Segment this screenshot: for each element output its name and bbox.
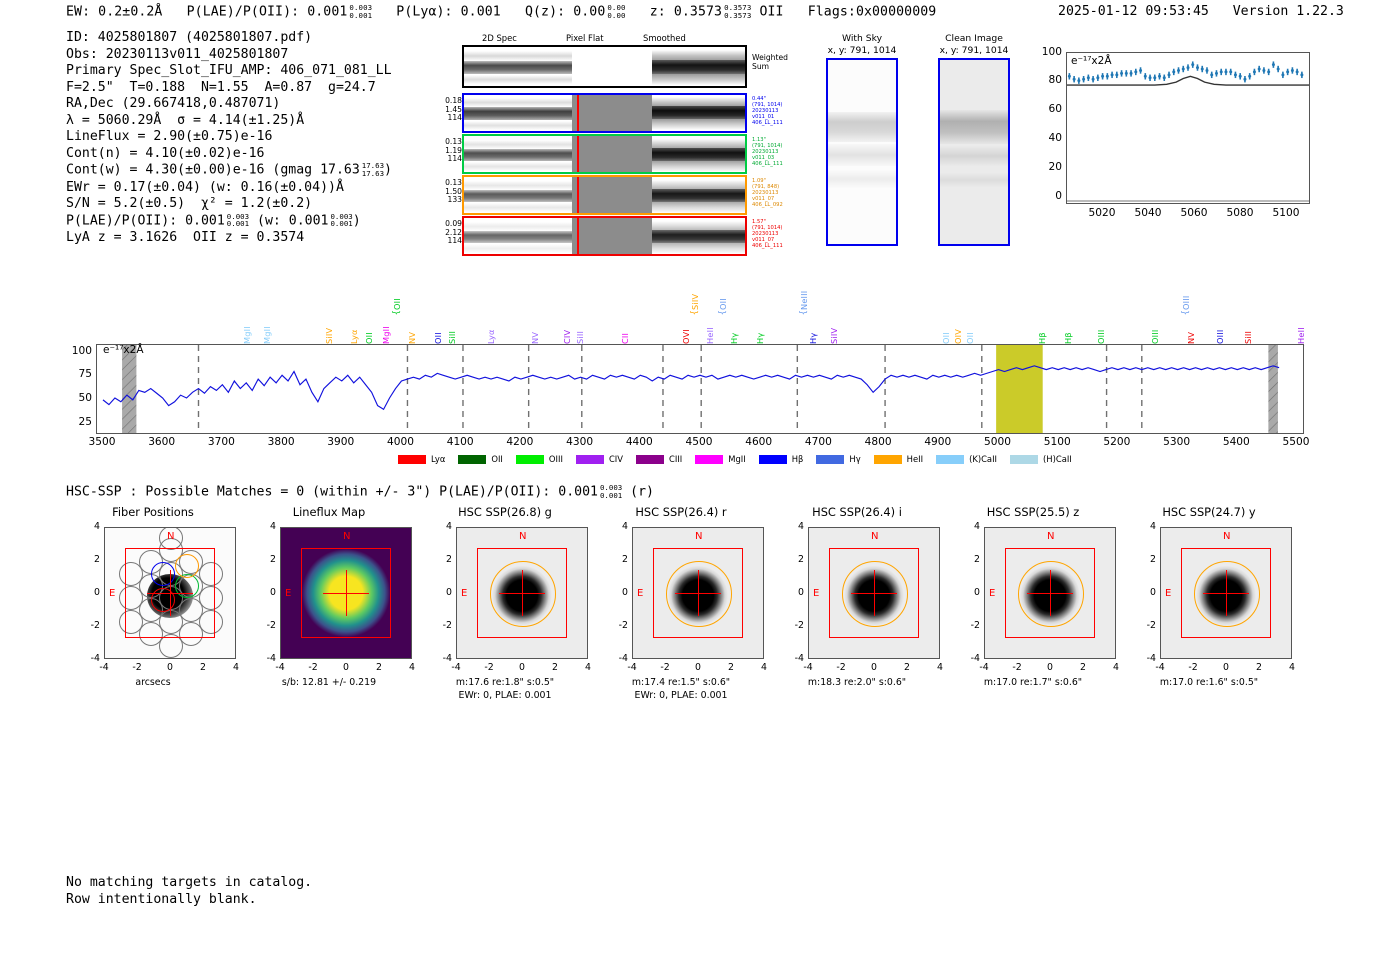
cutout-ytick: 2 [256, 554, 276, 565]
cutout-xtick: -4 [622, 662, 642, 673]
cutout-xtick: -4 [974, 662, 994, 673]
cutout-panel-title: HSC SSP(26.4) i [764, 505, 950, 520]
legend-label: MgII [728, 454, 745, 464]
emission-line-label: NV [530, 304, 540, 344]
zoom-plot-units: e⁻¹⁷x2Å [1071, 55, 1112, 67]
legend-swatch [458, 455, 486, 464]
spectrum-axes[interactable]: e⁻¹⁷x2Å [96, 344, 1304, 434]
legend-item: (K)CaII [936, 454, 997, 464]
meta-plae-w-lo: 0.001 [330, 219, 352, 228]
cutout-xtick: 4 [402, 662, 422, 673]
crosshair-horizontal [147, 593, 193, 594]
emission-line-label: CIV [562, 304, 572, 344]
cutout-ytick: 0 [784, 587, 804, 598]
header-qz-value: 0.00 [573, 5, 605, 20]
emission-line-label: SiIV [690, 270, 700, 310]
cutout-xtick: -2 [1007, 662, 1027, 673]
cutout-panel-title: HSC SSP(26.8) g [412, 505, 598, 520]
cutout-image[interactable]: NE [456, 527, 588, 659]
header-plae-label: P(LAE)/P(OII): [187, 5, 300, 20]
compass-east: E [285, 588, 291, 599]
cutout-xtick: -2 [479, 662, 499, 673]
zoom-ytick: 0 [1038, 190, 1062, 202]
cutout-panel: HSC SSP(26.8) gNE420-2-4-4-2024m:17.6 re… [412, 505, 598, 524]
cutout-ytick: -2 [784, 620, 804, 631]
emission-line-label: OIII [1150, 304, 1160, 344]
compass-east: E [1165, 588, 1171, 599]
emission-line-label: OII [718, 270, 728, 310]
emission-line-label: MgII [242, 304, 252, 344]
cutout-xtick: 2 [1073, 662, 1093, 673]
cutout-xtick: 0 [864, 662, 884, 673]
cutout-panel: Lineflux MapNE420-2-4-4-2024s/b: 12.81 +… [236, 505, 422, 524]
hsc-ssp-header: HSC-SSP : Possible Matches = 0 (within +… [66, 484, 654, 500]
zoom-spectrum-plot: e⁻¹⁷x2Å 100 80 60 40 20 0 5020 5040 5060… [1030, 52, 1310, 222]
2dspec-fiber-row: 0.13 1.19 114 1.13" (791, 1014) 20230113… [462, 134, 747, 174]
2dspec-fiber-row: 0.18 1.45 114 0.44" (791, 1014) 20230113… [462, 93, 747, 133]
spectrum-xtick: 3500 [82, 436, 122, 448]
fiber-smoothed-cell [652, 177, 745, 213]
cutout-ytick: 2 [1136, 554, 1156, 565]
emission-line-label: SiIV [829, 304, 839, 344]
2dspec-weighted-sum-row: Weighted Sum [462, 45, 747, 88]
cutout-xtick: -4 [446, 662, 466, 673]
cutout-image[interactable]: NE [984, 527, 1116, 659]
compass-east: E [637, 588, 643, 599]
fiber-values: 0.09 2.12 114 [442, 220, 462, 246]
weighted-sum-label: Weighted Sum [752, 53, 810, 71]
spectrum-ytick: 100 [62, 345, 92, 357]
spectrum-xtick: 4300 [560, 436, 600, 448]
cutout-panel-title: HSC SSP(24.7) y [1116, 505, 1302, 520]
cutout-ytick: 4 [1136, 521, 1156, 532]
compass-north: N [1223, 531, 1230, 542]
cutout-caption-primary: m:17.6 re:1.8" s:0.5" [412, 677, 598, 690]
cutout-caption-primary: s/b: 12.81 +/- 0.219 [236, 677, 422, 690]
cutout-ytick: 2 [608, 554, 628, 565]
clean-image-cutout[interactable] [938, 58, 1010, 246]
fiber-values: 0.18 1.45 114 [442, 97, 462, 123]
cutout-ytick: 4 [960, 521, 980, 532]
spectrum-xtick: 4200 [500, 436, 540, 448]
legend-swatch [1010, 455, 1038, 464]
source-metadata-block: ID: 4025801807 (4025801807.pdf) Obs: 202… [66, 30, 392, 246]
cutout-xtick: -2 [831, 662, 851, 673]
header-qz-label: Q(z): [525, 5, 565, 20]
spectrum-xtick: 4600 [739, 436, 779, 448]
legend-label: (K)CaII [969, 454, 997, 464]
cutout-image[interactable]: NE [280, 527, 412, 659]
fiber-spec-cell [464, 95, 572, 131]
cutout-xtick: -2 [655, 662, 675, 673]
cutout-caption-primary: arcsecs [60, 677, 246, 690]
fiber-smoothed-cell [652, 218, 745, 254]
compass-north: N [519, 531, 526, 542]
meta-redshifts: LyA z = 3.1626 OII z = 0.3574 [66, 230, 392, 247]
crosshair-horizontal [851, 593, 897, 594]
cutout-xtick: 0 [512, 662, 532, 673]
spectrum-xtick: 4500 [679, 436, 719, 448]
spectrum-xtick: 4000 [380, 436, 420, 448]
emission-line-label: SiII [575, 304, 585, 344]
cutout-caption-primary: m:17.0 re:1.7" s:0.6" [940, 677, 1126, 690]
cutout-ytick: -2 [960, 620, 980, 631]
cutout-ytick: 0 [1136, 587, 1156, 598]
zoom-ytick: 20 [1038, 161, 1062, 173]
spectrum-xtick: 5200 [1097, 436, 1137, 448]
zoom-ytick: 60 [1038, 103, 1062, 115]
cutout-image[interactable]: NE [808, 527, 940, 659]
footer-line-1: No matching targets in catalog. [66, 874, 312, 891]
fiber-annotation: 1.09" (791, 848) 20230113 v011_07 406_LL… [752, 178, 810, 208]
emission-line-label: Hγ [755, 304, 765, 344]
emission-line-label: Lyα [486, 304, 496, 344]
spectrum-units: e⁻¹⁷x2Å [103, 344, 144, 356]
legend-item: CIII [636, 454, 682, 464]
cutout-xtick: 4 [226, 662, 246, 673]
meta-snr: S/N = 5.2(±0.5) χ² = 1.2(±0.2) [66, 196, 392, 213]
cutout-xtick: 4 [754, 662, 774, 673]
zoom-ytick: 80 [1038, 74, 1062, 86]
legend-item: OII [458, 454, 503, 464]
header-timestamp-version: 2025-01-12 09:53:45 Version 1.22.3 [1058, 4, 1344, 19]
zoom-plot-axes: e⁻¹⁷x2Å [1066, 52, 1310, 204]
compass-north: N [695, 531, 702, 542]
legend-swatch [516, 455, 544, 464]
legend-item: Hβ [759, 454, 804, 464]
weighted-sum-spec-cell [464, 47, 572, 86]
header-plya-value: 0.001 [461, 5, 501, 20]
header-ew: EW: 0.2±0.2Å [66, 5, 162, 20]
legend-label: OIII [549, 454, 563, 464]
2d-spectrum-panel: 2D Spec Pixel Flat Smoothed Weighted Sum… [440, 33, 770, 248]
fiber-annotation: 0.44" (791, 1014) 20230113 v011_01 406_L… [752, 96, 810, 126]
zoom-xtick: 5060 [1174, 207, 1214, 219]
fiber-pixflat-cell [572, 95, 652, 131]
emission-line-label: MgII [262, 304, 272, 344]
fiber-values: 0.13 1.50 133 [442, 179, 462, 205]
legend-item: HeII [874, 454, 923, 464]
zoom-plot-svg [1067, 53, 1309, 203]
cutout-xtick: -4 [270, 662, 290, 673]
cutout-xtick: -2 [1183, 662, 1203, 673]
emission-line-label: CII [620, 304, 630, 344]
hsc-prefix: HSC-SSP : Possible Matches = 0 (within +… [66, 485, 550, 500]
spectrum-ytick: 50 [62, 392, 92, 404]
emission-line-label: NV [407, 304, 417, 344]
spectrum-xtick: 4400 [619, 436, 659, 448]
meta-cont-w: Cont(w) = 4.30(±0.00)e-16 (gmag 17.6317.… [66, 162, 392, 179]
emission-line-label: OIII [1096, 304, 1106, 344]
meta-seeing: F=2.5" T=0.188 N=1.55 A=0.87 g=24.7 [66, 80, 392, 97]
cutout-caption-primary: m:18.3 re:2.0" s:0.6" [764, 677, 950, 690]
cutout-ytick: -2 [608, 620, 628, 631]
cutout-ytick: 2 [432, 554, 452, 565]
compass-east: E [989, 588, 995, 599]
with-sky-title: With Sky [812, 33, 912, 44]
cutout-caption-secondary: EWr: 0, PLAE: 0.001 [412, 690, 598, 703]
header-plae-value: 0.001 [307, 5, 347, 20]
cutout-panel-title: HSC SSP(26.4) r [588, 505, 774, 520]
fiber-spec-cell [464, 177, 572, 213]
cutout-ytick: -2 [1136, 620, 1156, 631]
crosshair-horizontal [675, 593, 721, 594]
cutout-panel-title: Lineflux Map [236, 505, 422, 520]
meta-id: ID: 4025801807 (4025801807.pdf) [66, 30, 392, 47]
legend-swatch [936, 455, 964, 464]
legend-item: Lyα [398, 454, 445, 464]
cutout-ytick: 0 [960, 587, 980, 598]
emission-line-label: SiII [1243, 304, 1253, 344]
emission-line-label: HeII [705, 304, 715, 344]
cutout-xtick: -2 [303, 662, 323, 673]
header-plae-lo: 0.001 [349, 11, 372, 20]
header-z-species: OII [759, 5, 783, 20]
spectrum-xtick: 4800 [858, 436, 898, 448]
fiber-pixflat-cell [572, 177, 652, 213]
cutout-ytick: 0 [256, 587, 276, 598]
legend-label: Hγ [849, 454, 860, 464]
meta-cont-n: Cont(n) = 4.10(±0.02)e-16 [66, 146, 392, 163]
legend-item: MgII [695, 454, 745, 464]
compass-east: E [461, 588, 467, 599]
cutout-panel: HSC SSP(26.4) iNE420-2-4-4-2024m:18.3 re… [764, 505, 950, 524]
cutout-image[interactable]: NE [632, 527, 764, 659]
zoom-xtick: 5100 [1266, 207, 1306, 219]
clean-image-coords: x, y: 791, 1014 [924, 45, 1024, 56]
header-flags: Flags:0x00000009 [808, 5, 937, 20]
meta-gmag-lo: 17.63 [362, 169, 384, 178]
header-summary-line: EW: 0.2±0.2Å P(LAE)/P(OII): 0.0010.0030.… [66, 4, 936, 20]
meta-obs: Obs: 20230113v011_4025801807 [66, 47, 392, 64]
2dspec-col-title-smoothed: Smoothed [643, 33, 686, 43]
emission-line-label: MgII [381, 304, 391, 344]
spectrum-xtick: 3700 [201, 436, 241, 448]
legend-swatch [576, 455, 604, 464]
legend-label: Lyα [431, 454, 445, 464]
cutout-xtick: 2 [369, 662, 389, 673]
cutout-ytick: 4 [80, 521, 100, 532]
cutout-caption-primary: m:17.4 re:1.5" s:0.6" [588, 677, 774, 690]
legend-swatch [695, 455, 723, 464]
cutout-ytick: -2 [256, 620, 276, 631]
full-spectrum-plot: MgII{MgII{SiIV{Lyα{OII{OII{MgII{NV{OII{S… [96, 266, 1304, 436]
spectrum-svg [97, 345, 1303, 433]
emission-line-label: HeII [1296, 304, 1306, 344]
emission-line-label: OIII [1215, 304, 1225, 344]
spectrum-xtick: 5400 [1216, 436, 1256, 448]
2dspec-fiber-row: 0.09 2.12 114 1.57" (791, 1014) 20230113… [462, 216, 747, 256]
emission-line-brace: { [392, 310, 402, 315]
crosshair-horizontal [323, 593, 369, 594]
cutout-ytick: -2 [80, 620, 100, 631]
crosshair-horizontal [499, 593, 545, 594]
spectrum-xtick: 5000 [978, 436, 1018, 448]
cutout-xtick: 0 [1216, 662, 1236, 673]
fiber-spec-cell [464, 218, 572, 254]
legend-swatch [759, 455, 787, 464]
cutout-xtick: -4 [798, 662, 818, 673]
compass-north: N [1047, 531, 1054, 542]
spectrum-ytick: 25 [62, 416, 92, 428]
emission-line-label: OII [941, 304, 951, 344]
spectrum-xtick: 4100 [440, 436, 480, 448]
cutout-xtick: 4 [578, 662, 598, 673]
cutout-image[interactable]: NE [104, 527, 236, 659]
cutout-image[interactable]: NE [1160, 527, 1292, 659]
compass-north: N [343, 531, 350, 542]
compass-east: E [109, 588, 115, 599]
legend-label: OII [491, 454, 503, 464]
2dspec-col-title-pixflat: Pixel Flat [566, 33, 604, 43]
legend-item: Hγ [816, 454, 860, 464]
zoom-xtick: 5040 [1128, 207, 1168, 219]
emission-line-label: OII [364, 304, 374, 344]
cutout-xtick: 2 [721, 662, 741, 673]
emission-line-label: SiIV [324, 304, 334, 344]
spectrum-xtick: 4900 [918, 436, 958, 448]
footer-line-2: Row intentionally blank. [66, 891, 312, 908]
emission-line-label: NeIII [799, 270, 809, 310]
legend-item: (H)CaII [1010, 454, 1072, 464]
meta-lineflux: LineFlux = 2.90(±0.75)e-16 [66, 129, 392, 146]
weighted-sum-smoothed-cell [652, 47, 745, 86]
cutout-ytick: 4 [608, 521, 628, 532]
cutout-xtick: 4 [1282, 662, 1302, 673]
crosshair-horizontal [1027, 593, 1073, 594]
fiber-pixflat-cell [572, 218, 652, 254]
legend-item: CIV [576, 454, 623, 464]
emission-line-legend: LyαOIIOIIICIVCIIIMgIIHβHγHeII(K)CaII(H)C… [398, 454, 1085, 464]
cutout-ytick: -2 [432, 620, 452, 631]
cutout-xtick: 0 [160, 662, 180, 673]
cutout-caption-secondary: EWr: 0, PLAE: 0.001 [588, 690, 774, 703]
2dspec-col-title-spec: 2D Spec [482, 33, 517, 43]
cutout-panel-title: HSC SSP(25.5) z [940, 505, 1126, 520]
compass-east: E [813, 588, 819, 599]
cutout-xtick: 2 [1249, 662, 1269, 673]
fiber-annotation: 1.57" (791, 1014) 20230113 v011_07 406_L… [752, 219, 810, 249]
cutout-panel-title: Fiber Positions [60, 505, 246, 520]
cutout-xtick: 0 [336, 662, 356, 673]
cutout-xtick: -2 [127, 662, 147, 673]
header-z-lo: 0.3573 [724, 11, 751, 20]
compass-north: N [871, 531, 878, 542]
legend-swatch [874, 455, 902, 464]
emission-line-label: Hγ [729, 304, 739, 344]
meta-ewr: EWr = 0.17(±0.04) (w: 0.16(±0.04))Å [66, 180, 392, 197]
meta-wavelength: λ = 5060.29Å σ = 4.14(±1.25)Å [66, 113, 392, 130]
clean-image-title: Clean Image [924, 33, 1024, 44]
spectrum-xtick: 3900 [321, 436, 361, 448]
cutout-panel: HSC SSP(24.7) yNE420-2-4-4-2024m:17.0 re… [1116, 505, 1302, 524]
cutout-ytick: 0 [608, 587, 628, 598]
cutout-xtick: -4 [1150, 662, 1170, 673]
cutout-xtick: 4 [1106, 662, 1126, 673]
cutout-xtick: 4 [930, 662, 950, 673]
spectrum-xtick: 5100 [1037, 436, 1077, 448]
spectrum-ytick: 75 [62, 368, 92, 380]
cutout-xtick: -4 [94, 662, 114, 673]
weighted-sum-blank-cell [572, 47, 652, 86]
fiber-smoothed-cell [652, 136, 745, 172]
zoom-ytick: 40 [1038, 132, 1062, 144]
cutout-ytick: 4 [784, 521, 804, 532]
meta-plae-lo: 0.001 [227, 219, 249, 228]
meta-primary-spec: Primary Spec_Slot_IFU_AMP: 406_071_081_L… [66, 63, 392, 80]
header-datetime: 2025-01-12 09:53:45 [1058, 4, 1209, 19]
cutout-ytick: 4 [432, 521, 452, 532]
fiber-annotation: 1.13" (791, 1014) 20230113 v011_03 406_L… [752, 137, 810, 167]
emission-line-label: OIV [953, 304, 963, 344]
cutout-ytick: 2 [784, 554, 804, 565]
cutout-panel: HSC SSP(26.4) rNE420-2-4-4-2024m:17.4 re… [588, 505, 774, 524]
legend-label: HeII [907, 454, 923, 464]
cutout-xtick: 2 [545, 662, 565, 673]
with-sky-coords: x, y: 791, 1014 [812, 45, 912, 56]
emission-line-label: OII [433, 304, 443, 344]
hsc-plae-lo: 0.001 [600, 491, 622, 500]
emission-line-brace: { [799, 310, 809, 315]
cutout-ytick: 2 [80, 554, 100, 565]
meta-radec: RA,Dec (29.667418,0.487071) [66, 96, 392, 113]
fiber-smoothed-cell [652, 95, 745, 131]
cutout-xtick: 0 [688, 662, 708, 673]
meta-plae: P(LAE)/P(OII): 0.0010.0030.001 (w: 0.001… [66, 213, 392, 230]
legend-label: Hβ [792, 454, 804, 464]
zoom-xtick: 5020 [1082, 207, 1122, 219]
hsc-suffix: (r) [630, 485, 654, 500]
fiber-values: 0.13 1.19 114 [442, 138, 462, 164]
legend-label: (H)CaII [1043, 454, 1072, 464]
header-qz-lo: 0.00 [607, 11, 625, 20]
cutout-ytick: 2 [960, 554, 980, 565]
emission-line-label: NV [1186, 304, 1196, 344]
zoom-ytick: 100 [1038, 46, 1062, 58]
emission-line-label: Hβ [1037, 304, 1047, 344]
header-plya-label: P(Lyα): [396, 5, 452, 20]
emission-line-label: Hγ [808, 304, 818, 344]
header-z-label: z: [650, 5, 666, 20]
legend-swatch [816, 455, 844, 464]
cutout-xtick: 2 [193, 662, 213, 673]
fiber-spec-cell [464, 136, 572, 172]
spectrum-xtick: 4700 [798, 436, 838, 448]
header-z-value: 0.3573 [674, 5, 722, 20]
cutout-ytick: 0 [432, 587, 452, 598]
legend-swatch [398, 455, 426, 464]
emission-line-label: Hβ [1063, 304, 1073, 344]
header-version: Version 1.22.3 [1233, 4, 1344, 19]
2dspec-fiber-row: 0.13 1.50 133 1.09" (791, 848) 20230113 … [462, 175, 747, 215]
spectrum-xtick: 5500 [1276, 436, 1316, 448]
cutout-ytick: 0 [80, 587, 100, 598]
with-sky-cutout[interactable] [826, 58, 898, 246]
cutout-panel: Fiber PositionsNE420-2-4-4-2024arcsecs [60, 505, 246, 524]
compass-north: N [167, 531, 174, 542]
crosshair-horizontal [1203, 593, 1249, 594]
legend-swatch [636, 455, 664, 464]
cutout-xtick: 2 [897, 662, 917, 673]
spectrum-xtick: 3600 [142, 436, 182, 448]
zoom-xtick: 5080 [1220, 207, 1260, 219]
hsc-plae-value: 0.001 [558, 485, 598, 500]
fiber-pixflat-cell [572, 136, 652, 172]
emission-line-brace: { [690, 310, 700, 315]
cutout-xtick: 0 [1040, 662, 1060, 673]
emission-line-brace: { [718, 310, 728, 315]
emission-line-label: OII [965, 304, 975, 344]
